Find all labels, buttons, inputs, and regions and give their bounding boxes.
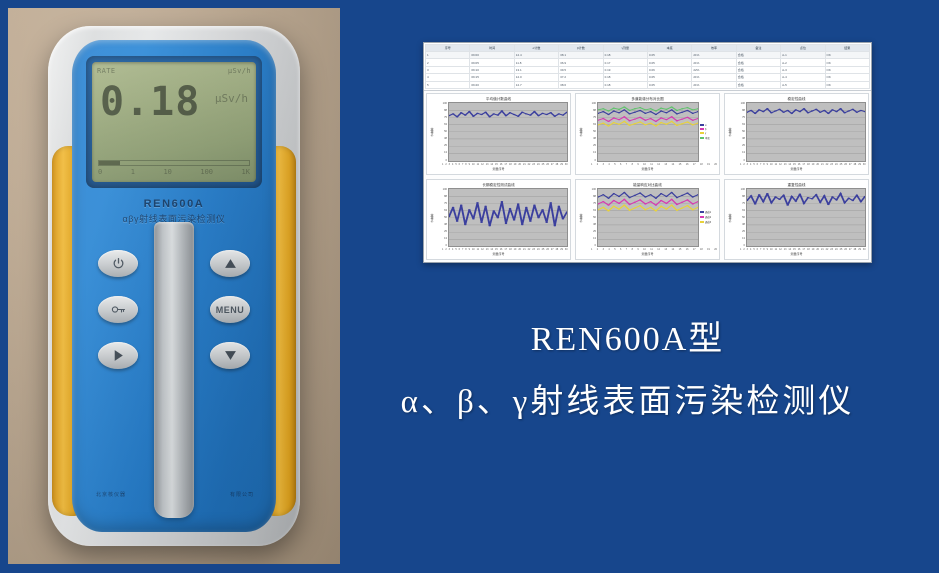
chart-y-tick: 100 [584,188,596,191]
up-button[interactable] [210,250,250,277]
chart-x-tick: 6 [620,248,621,251]
legend-swatch [700,221,704,223]
chart-y-tick: 25 [584,144,596,147]
chart-x-tick: 12 [779,248,782,251]
chart-y-tick: 13 [435,237,447,240]
chart-x-tick: 28 [854,248,857,251]
legend-swatch [700,128,704,130]
chart-x-tick: 30 [565,163,568,166]
page-subtitle: α、β、γ射线表面污染检测仪 [320,376,935,428]
chart-y-tick: 88 [733,195,745,198]
table-row[interactable]: 109:0012.438.10.180.0521%合格A-1OK [426,52,870,59]
chart-plot-area [448,102,568,162]
chart-legend: αβγ本底 [699,102,717,162]
chart-x-tick: 1 [740,248,741,251]
table-cell: 21% [692,74,736,81]
legend-label: 通道2 [705,215,711,219]
table-cell: 0.05 [647,81,691,88]
table-column-header: 序号 [426,45,470,52]
chart-x-tick: 13 [664,163,667,166]
legend-label: 通道3 [705,220,711,224]
chart-y-tick: 100 [733,102,745,105]
chart-x-tick: 3 [603,163,604,166]
chart-x-tick: 23 [532,163,535,166]
table-column-header: γ剂量 [603,45,647,52]
chart-x-tick: 3 [747,163,748,166]
chart-x-tick: 18 [807,248,810,251]
chart-y-tick: 50 [733,216,745,219]
lcd-screen: RATE μSv/h 0.18 μSv/h 0 1 [92,62,256,182]
chart-y-tick: 38 [733,137,745,140]
lcd-scale-tick: 1K [242,168,250,179]
chart-y-axis-label: 计数率 [578,102,584,162]
chart-x-tick: 15 [793,248,796,251]
table-cell: 09:20 [470,81,514,88]
triangle-up-icon [224,258,237,269]
table-column-header: α计数 [514,45,558,52]
table-cell: 12.0 [514,74,558,81]
legend-item: α [700,124,717,127]
chart-y-tick: 38 [435,223,447,226]
chart-body: 计数率100887563503825130 [429,102,568,162]
chart-x-tick: 19 [707,248,710,251]
chart-x-tick: 30 [863,248,866,251]
table-cell: OK [825,74,869,81]
chart-y-tick: 25 [733,144,745,147]
chart-y-tick: 25 [435,230,447,233]
chart-body: 计数率100887563503825130通道1通道2通道3 [578,188,717,248]
chart-y-tick: 75 [733,116,745,119]
chart-x-tick: 15 [495,163,498,166]
chart-x-tick: 14 [671,248,674,251]
chart-x-tick: 24 [537,163,540,166]
table-cell: 22% [692,66,736,73]
chart-x-tick: 24 [835,163,838,166]
chart-x-tick: 7 [760,248,761,251]
chart-x-tick: 9 [767,248,768,251]
product-slide: RATE μSv/h 0.18 μSv/h 0 1 [0,0,939,573]
chart-x-tick: 28 [556,248,559,251]
chart-x-tick: 2 [597,163,598,166]
table-cell: 0.06 [647,66,691,73]
chart-x-tick: 1 [591,163,592,166]
triangle-right-icon [113,349,124,362]
chart-x-tick: 25 [840,163,843,166]
chart-x-tick: 18 [700,248,703,251]
chart-x-axis-label: 测量序号 [578,167,717,172]
chart-x-tick: 20 [714,163,717,166]
device-photo: RATE μSv/h 0.18 μSv/h 0 1 [8,8,340,564]
chart-x-tick: 16 [500,163,503,166]
table-cell: 12.4 [514,52,558,59]
chart-x-tick: 19 [514,163,517,166]
down-button[interactable] [210,342,250,369]
table-cell: 38.1 [559,52,603,59]
chart-x-tick: 19 [707,163,710,166]
software-screenshot-panel: 序号时间α计数β计数γ剂量本底效率备注点位结果 109:0012.438.10.… [423,42,872,263]
lcd-scale-tick: 10 [163,168,171,179]
table-cell: 09:00 [470,52,514,59]
table-cell: 36.9 [559,59,603,66]
lcd-bargraph [98,160,250,166]
chart-x-tick: 18 [807,163,810,166]
table-column-header: 点位 [781,45,825,52]
chart-x-tick: 24 [835,248,838,251]
chart-x-tick: 4 [608,163,609,166]
chart-x-tick: 16 [798,248,801,251]
footmark-left: 北京核仪器 [96,491,126,498]
chart-y-tick: 38 [584,223,596,226]
table-cell: 5 [426,81,470,88]
chart-y-tick: 63 [435,209,447,212]
table-cell: 3 [426,66,470,73]
chart-y-tick: 75 [733,202,745,205]
legend-item: 通道2 [700,215,717,219]
chart-x-tick: 6 [620,163,621,166]
table-cell: 0.18 [603,74,647,81]
chart-card: 长期稳定性测试曲线计数率1008875635038251301234567891… [426,179,571,261]
chart-x-tick: 3 [747,248,748,251]
table-cell: 合格 [736,66,780,73]
chart-x-tick: 4 [452,248,453,251]
chart-x-tick: 8 [632,163,633,166]
legend-swatch [700,124,704,126]
chart-x-tick: 9 [469,248,470,251]
chart-x-tick: 2 [445,248,446,251]
table-cell: 0.19 [603,66,647,73]
data-table: 序号时间α计数β计数γ剂量本底效率备注点位结果 109:0012.438.10.… [425,44,870,89]
chart-x-tick: 4 [750,163,751,166]
chart-x-tick: 15 [793,163,796,166]
chart-y-tick: 88 [584,195,596,198]
chart-x-tick: 26 [546,163,549,166]
chart-x-tick: 20 [518,163,521,166]
chart-x-tick: 29 [560,248,563,251]
chart-y-tick: 50 [435,216,447,219]
table-row[interactable]: 309:1013.139.50.190.0622%合格A-3OK [426,66,870,73]
chart-y-tick: 63 [584,209,596,212]
chart-y-axis-label: 计数率 [429,188,435,248]
chart-x-tick: 27 [551,163,554,166]
chart-y-ticks: 100887563503825130 [435,188,448,248]
key-button[interactable] [98,296,138,323]
legend-label: α [705,124,706,127]
chart-y-tick: 25 [733,230,745,233]
chart-legend: 通道1通道2通道3 [699,188,717,248]
chart-x-tick: 7 [626,248,627,251]
key-icon [111,304,126,315]
table-cell: OK [825,59,869,66]
chart-x-tick: 8 [632,248,633,251]
table-cell: 37.2 [559,74,603,81]
chart-x-axis-label: 测量序号 [727,252,866,257]
chart-y-tick: 63 [584,123,596,126]
chart-x-axis-label: 测量序号 [727,167,866,172]
power-button[interactable] [98,250,138,277]
chart-x-tick: 8 [465,248,466,251]
chart-y-tick: 50 [584,216,596,219]
chart-x-tick: 14 [671,163,674,166]
chart-y-tick: 63 [733,123,745,126]
chart-x-tick: 11 [775,163,777,166]
menu-button[interactable]: MENU [210,296,250,323]
chart-plot-area [746,102,866,162]
chart-x-tick: 10 [643,248,646,251]
table-column-header: 结果 [825,45,869,52]
table-cell: 0.17 [603,59,647,66]
table-cell: 1 [426,52,470,59]
chart-x-tick: 20 [816,163,819,166]
chart-y-ticks: 100887563503825130 [584,102,597,162]
chart-x-tick: 30 [863,163,866,166]
chart-x-tick: 16 [686,163,689,166]
chart-x-tick: 5 [753,163,754,166]
chart-plot-area [597,102,699,162]
table-cell: 09:15 [470,74,514,81]
chart-x-tick: 22 [528,248,531,251]
chart-y-tick: 88 [584,109,596,112]
chart-x-tick: 19 [514,248,517,251]
chart-x-tick: 9 [767,163,768,166]
chart-card: 能量响应对比曲线计数率100887563503825130通道1通道2通道312… [575,179,720,261]
chart-y-tick: 38 [584,137,596,140]
legend-item: γ [700,132,717,135]
chart-x-tick: 5 [614,248,615,251]
table-cell: OK [825,66,869,73]
chart-x-tick: 13 [486,248,489,251]
chart-x-tick: 16 [798,163,801,166]
chart-x-tick: 21 [523,248,526,251]
chart-x-tick: 10 [472,163,475,166]
chart-y-tick: 50 [733,130,745,133]
chart-grid: 平均值计数曲线计数率100887563503825130123456789101… [424,91,871,262]
chart-body: 计数率100887563503825130 [429,188,568,248]
chart-x-tick: 12 [779,163,782,166]
chart-x-tick: 14 [490,248,493,251]
chart-x-tick: 29 [858,163,861,166]
chart-x-tick: 26 [546,248,549,251]
table-cell: 0.05 [647,52,691,59]
chart-x-tick: 17 [693,248,696,251]
chart-x-tick: 6 [459,163,460,166]
chart-x-axis-label: 测量序号 [429,167,568,172]
chart-y-tick: 75 [435,202,447,205]
table-cell: 0.05 [647,74,691,81]
lcd-mode-label: RATE [97,67,115,75]
chart-x-tick: 13 [486,163,489,166]
chart-y-axis-label: 计数率 [727,102,733,162]
table-cell: A-1 [781,52,825,59]
table-cell: 38.6 [559,81,603,88]
chart-x-tick: 21 [523,163,526,166]
chart-x-tick: 27 [849,248,852,251]
table-cell: A-3 [781,66,825,73]
table-row[interactable]: 409:1512.037.20.180.0521%合格A-4OK [426,74,870,81]
chart-card: 稳定性曲线计数率10088756350382513012345678910111… [724,93,869,175]
triangle-down-icon [224,350,237,361]
legend-label: 本底 [705,136,710,140]
chart-y-tick: 38 [435,137,447,140]
table-cell: A-4 [781,74,825,81]
spreadsheet-area: 序号时间α计数β计数γ剂量本底效率备注点位结果 109:0012.438.10.… [424,43,871,91]
chart-y-ticks: 100887563503825130 [584,188,597,248]
chart-x-tick: 10 [643,163,646,166]
chart-body: 计数率100887563503825130αβγ本底 [578,102,717,162]
chart-y-tick: 100 [435,188,447,191]
chart-x-tick: 9 [637,163,638,166]
chart-x-tick: 11 [477,163,479,166]
lcd-scale: 0 1 10 100 1K [98,168,250,179]
chart-x-tick: 21 [821,248,824,251]
chart-x-tick: 28 [556,163,559,166]
chart-y-tick: 63 [733,209,745,212]
chart-y-tick: 13 [435,151,447,154]
table-column-header: 效率 [692,45,736,52]
chart-x-tick: 5 [753,248,754,251]
device-handle-strip [154,222,194,518]
table-header-row: 序号时间α计数β计数γ剂量本底效率备注点位结果 [426,45,870,52]
table-row[interactable]: 509:2012.738.60.180.0521%合格A-5OK [426,81,870,88]
chart-x-tick: 2 [743,248,744,251]
chart-y-tick: 100 [733,188,745,191]
chart-plot-area [597,188,699,248]
chart-y-tick: 13 [584,151,596,154]
chart-x-tick: 4 [750,248,751,251]
table-cell: 39.5 [559,66,603,73]
lcd-scale-tick: 1 [131,168,135,179]
table-column-header: 时间 [470,45,514,52]
chart-x-tick: 30 [565,248,568,251]
chart-y-tick: 50 [584,130,596,133]
chart-x-tick: 10 [770,248,773,251]
chart-x-tick: 12 [481,163,484,166]
table-column-header: β计数 [559,45,603,52]
chart-x-tick: 11 [650,248,652,251]
table-cell: 0.18 [603,52,647,59]
chart-body: 计数率100887563503825130 [727,102,866,162]
chart-x-tick: 28 [854,163,857,166]
lcd-unit: μSv/h [215,92,248,105]
chart-x-tick: 25 [840,248,843,251]
chart-x-tick: 29 [560,163,563,166]
footmark-right: 有限公司 [230,491,254,498]
chart-x-tick: 8 [763,248,764,251]
chart-x-tick: 3 [449,248,450,251]
chart-y-tick: 100 [435,102,447,105]
table-cell: 09:05 [470,59,514,66]
lcd-bargraph-fill [99,161,120,165]
chart-x-tick: 2 [445,163,446,166]
chart-x-tick: 27 [849,163,852,166]
table-cell: 合格 [736,59,780,66]
chart-x-tick: 1 [442,248,443,251]
chart-x-tick: 3 [603,248,604,251]
table-cell: 0.18 [603,81,647,88]
table-column-header: 备注 [736,45,780,52]
chart-x-tick: 1 [442,163,443,166]
chart-x-tick: 17 [504,248,507,251]
chart-x-tick: 13 [664,248,667,251]
chart-x-tick: 1 [740,163,741,166]
chart-x-tick: 2 [743,163,744,166]
chart-x-tick: 22 [826,163,829,166]
chart-y-tick: 13 [733,237,745,240]
legend-label: β [705,128,706,131]
chart-x-tick: 9 [469,163,470,166]
chart-y-tick: 100 [584,102,596,105]
chart-y-tick: 13 [584,237,596,240]
chart-x-tick: 7 [462,163,463,166]
chart-x-tick: 14 [788,163,791,166]
chart-x-tick: 12 [481,248,484,251]
lcd-bezel: RATE μSv/h 0.18 μSv/h 0 1 [86,56,262,188]
chart-x-tick: 6 [459,248,460,251]
chart-y-axis-label: 计数率 [429,102,435,162]
chart-x-tick: 14 [490,163,493,166]
chart-x-tick: 19 [812,248,815,251]
chart-y-tick: 25 [584,230,596,233]
chart-y-tick: 50 [435,130,447,133]
chart-body: 计数率100887563503825130 [727,188,866,248]
chart-x-tick: 5 [614,163,615,166]
chart-x-tick: 22 [826,248,829,251]
play-button[interactable] [98,342,138,369]
faceplate-label: REN600A αβγ射线表面污染检测仪 [72,198,276,225]
chart-x-tick: 15 [495,248,498,251]
legend-item: 通道1 [700,210,717,214]
chart-x-tick: 9 [637,248,638,251]
table-cell: 12.7 [514,81,558,88]
chart-card: 多道能谱分布对比图计数率100887563503825130αβγ本底12345… [575,93,720,175]
table-cell: A-5 [781,81,825,88]
chart-x-tick: 23 [532,248,535,251]
table-column-header: 本底 [647,45,691,52]
chart-x-tick: 6 [757,163,758,166]
table-cell: OK [825,52,869,59]
legend-item: 通道3 [700,220,717,224]
chart-x-tick: 1 [591,248,592,251]
legend-item: β [700,128,717,131]
chart-y-tick: 75 [584,202,596,205]
table-cell: 09:10 [470,66,514,73]
chart-x-tick: 21 [821,163,824,166]
chart-x-tick: 17 [802,163,805,166]
chart-y-ticks: 100887563503825130 [435,102,448,162]
chart-x-tick: 11 [775,248,777,251]
chart-x-tick: 11 [650,163,652,166]
table-cell: 21% [692,81,736,88]
table-cell: 0.05 [647,59,691,66]
chart-y-tick: 25 [435,144,447,147]
chart-x-tick: 17 [802,248,805,251]
chart-x-tick: 16 [500,248,503,251]
legend-label: γ [705,132,706,135]
chart-x-tick: 15 [679,248,682,251]
chart-x-tick: 4 [608,248,609,251]
chart-x-tick: 7 [462,248,463,251]
chart-x-tick: 14 [788,248,791,251]
chart-x-tick: 7 [626,163,627,166]
lcd-unit-top-label: μSv/h [228,67,251,75]
chart-x-tick: 17 [693,163,696,166]
chart-x-tick: 16 [686,248,689,251]
chart-x-tick: 18 [509,163,512,166]
table-cell: A-2 [781,59,825,66]
device-body: RATE μSv/h 0.18 μSv/h 0 1 [48,26,300,546]
chart-y-tick: 63 [435,123,447,126]
table-row[interactable]: 209:0511.836.90.170.0521%合格A-2OK [426,59,870,66]
chart-y-tick: 88 [435,195,447,198]
